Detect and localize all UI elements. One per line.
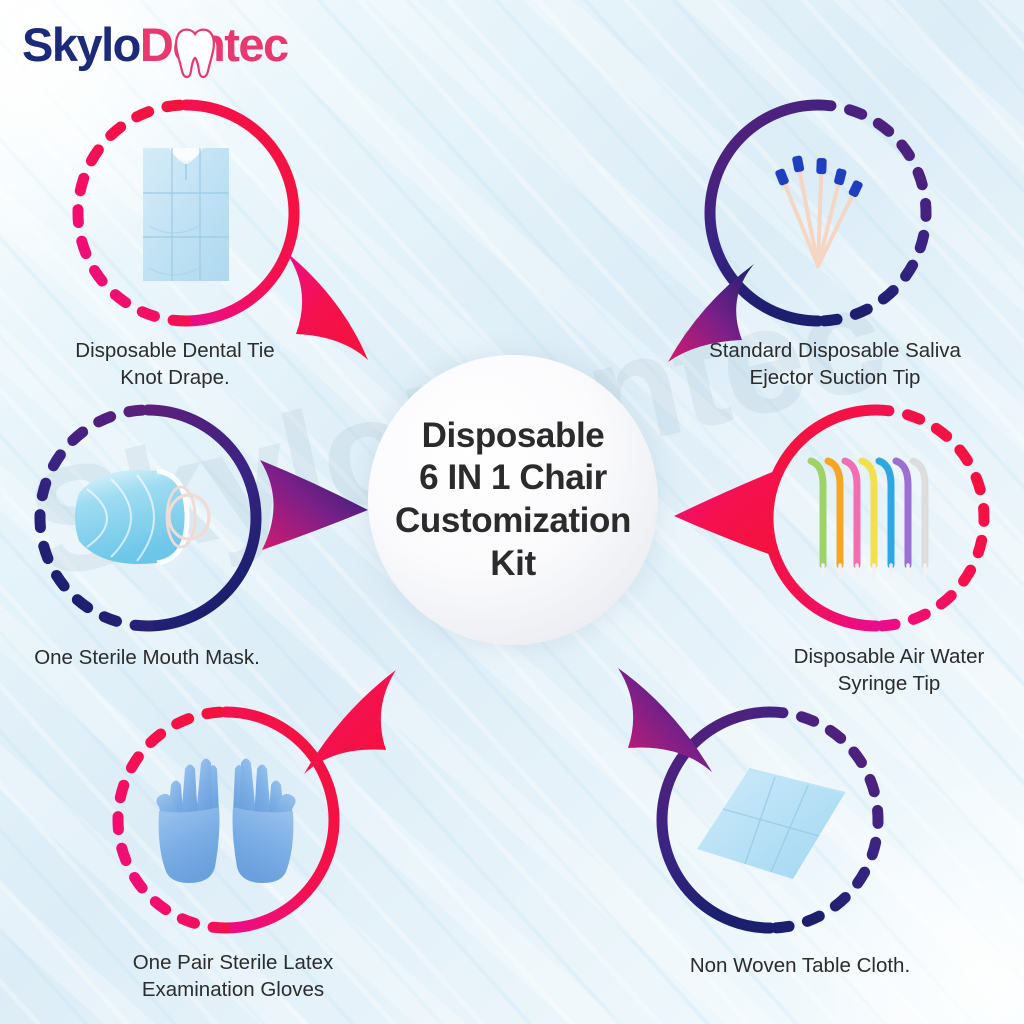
dental-bib-drape-photo — [99, 126, 273, 300]
arrow-top-left — [282, 248, 392, 368]
brand-logo: SkyloDentec — [22, 16, 288, 72]
center-title: Disposable 6 IN 1 Chair Customization Ki… — [381, 415, 645, 586]
label-line-2: Syringe Tip — [724, 671, 1024, 698]
syringe-tip — [879, 461, 891, 565]
label-line-1: One Sterile Mouth Mask. — [0, 645, 312, 672]
center-title-line-3: Customization — [395, 500, 631, 543]
arrow-mid-left — [252, 440, 372, 566]
logo-text-skylo: Skylo — [22, 18, 140, 71]
label-line-1: Non Woven Table Cloth. — [635, 953, 965, 980]
center-kit-circle: Disposable 6 IN 1 Chair Customization Ki… — [368, 355, 658, 645]
arrow-bottom-left — [282, 664, 404, 782]
item-circle-sterile-mouth-mask[interactable] — [30, 400, 266, 636]
syringe-tip — [828, 461, 840, 565]
label-line-1: One Pair Sterile Latex — [68, 950, 398, 977]
center-title-line-2: 6 IN 1 Chair — [395, 457, 631, 500]
item-label-non-woven-table-cloth: Non Woven Table Cloth. — [635, 953, 965, 980]
syringe-tip — [862, 461, 874, 565]
arrow-top-right — [648, 258, 758, 368]
item-label-latex-examination-gloves: One Pair Sterile Latex Examination Glove… — [68, 950, 398, 1003]
syringe-tip — [913, 461, 925, 565]
infographic-canvas: SkyloDentec SkyloDentec SkyloDentec Disp… — [0, 0, 1024, 1024]
label-line-1: Disposable Air Water — [724, 644, 1024, 671]
syringe-tip — [845, 461, 857, 565]
item-label-air-water-syringe-tip: Disposable Air Water Syringe Tip — [724, 644, 1024, 697]
surgical-face-mask-photo — [61, 431, 235, 605]
item-label-sterile-mouth-mask: One Sterile Mouth Mask. — [0, 645, 312, 672]
center-title-line-4: Kit — [395, 543, 631, 586]
arrow-mid-right — [668, 452, 790, 574]
arrow-bottom-right — [608, 660, 732, 782]
center-title-line-1: Disposable — [395, 415, 631, 458]
label-line-2: Ejector Suction Tip — [670, 365, 1000, 392]
air-water-syringe-tips-photo — [789, 431, 963, 605]
syringe-tip — [811, 461, 823, 565]
label-line-2: Knot Drape. — [10, 365, 340, 392]
item-circle-air-water-syringe-tip[interactable] — [758, 400, 994, 636]
item-circle-dental-tie-knot-drape[interactable] — [68, 95, 304, 331]
syringe-tip — [896, 461, 908, 565]
label-line-2: Examination Gloves — [68, 977, 398, 1004]
tooth-icon — [172, 27, 218, 81]
